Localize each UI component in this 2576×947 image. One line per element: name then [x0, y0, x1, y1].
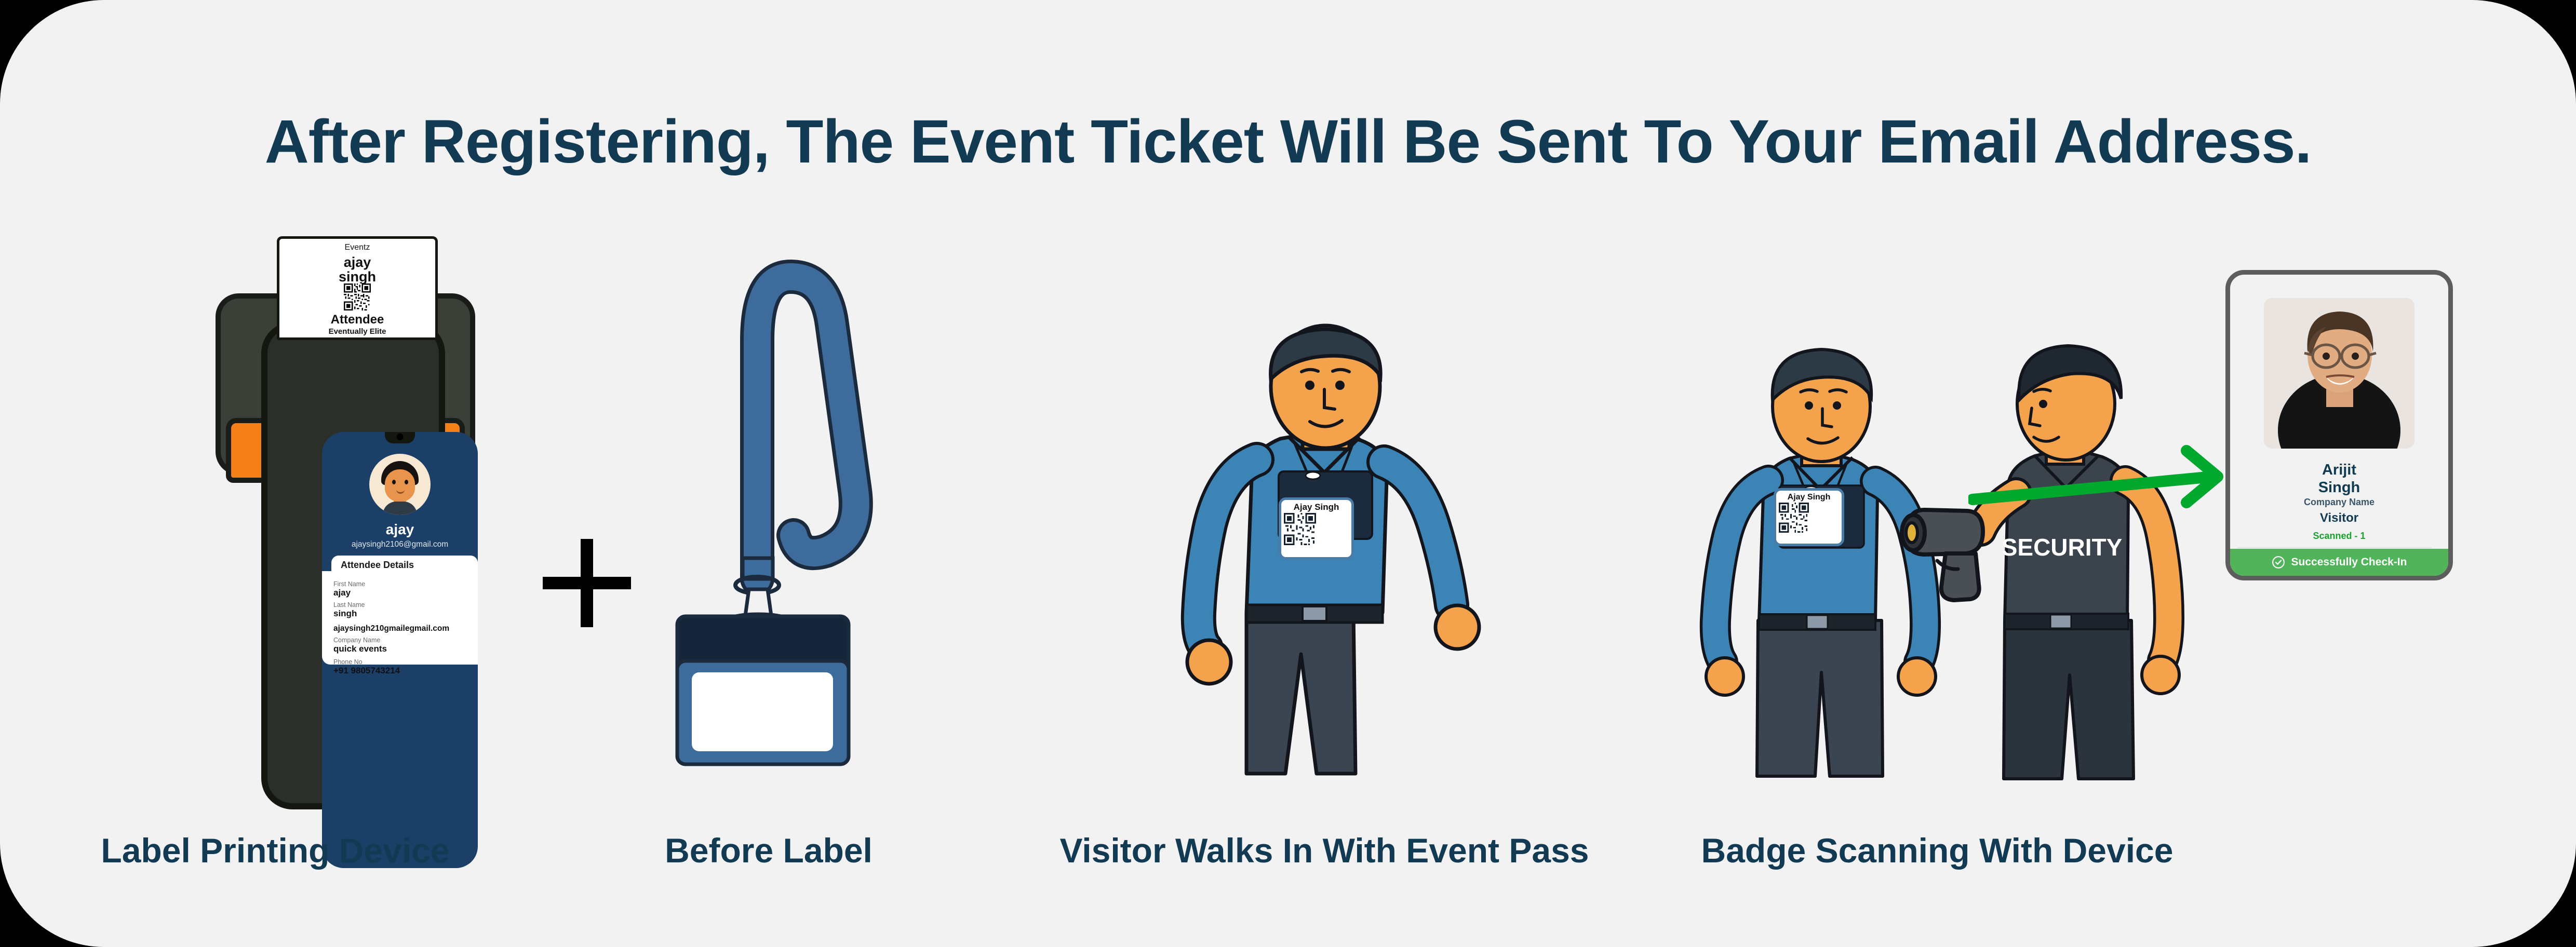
qr-code-icon: [1776, 503, 1812, 533]
label-role: Attendee: [279, 313, 435, 327]
scanned-visitor-badge-name: Ajay Singh: [1776, 493, 1842, 502]
field-value-first-name: ajay: [333, 588, 351, 598]
security-uniform-text: SECURITY: [2002, 534, 2123, 561]
caption-step-2: Before Label: [551, 831, 987, 870]
attendee-details-title: Attendee Details: [341, 560, 414, 571]
field-value-company: quick events: [333, 644, 387, 654]
attendee-photo: [2264, 298, 2414, 449]
result-role: Visitor: [2230, 511, 2448, 525]
label-company-tagline: Eventually Elite: [279, 327, 435, 336]
label-brand: Eventz: [279, 243, 435, 252]
divider: [2237, 547, 2432, 548]
screen-attendee-name: ajay: [322, 521, 478, 538]
result-company-name: Company Name: [2230, 497, 2448, 508]
field-label-phone: Phone No: [333, 658, 363, 666]
label-printing-device: ajay ajaysingh2106@gmail.com Attendee De…: [216, 236, 475, 802]
screen-attendee-email: ajaysingh2106@gmail.com: [322, 540, 478, 549]
caption-step-1: Label Printing Device: [0, 831, 551, 870]
printed-label: Eventz ajay singh: [277, 236, 438, 340]
result-last-name: Singh: [2230, 479, 2448, 496]
lanyard-badge-holder: [670, 247, 878, 787]
checkin-status-text: Successfully Check-In: [2291, 556, 2407, 569]
label-first-name: ajay: [279, 254, 435, 270]
avatar: [369, 454, 431, 515]
screen-notch: [385, 432, 415, 443]
checkin-result-card: Arijit Singh Company Name Visitor Scanne…: [2225, 270, 2453, 580]
field-label-company: Company Name: [333, 637, 380, 644]
caption-step-3: Visitor Walks In With Event Pass: [987, 831, 1662, 870]
qr-code-icon: [1281, 513, 1319, 545]
field-label-first-name: First Name: [333, 580, 365, 588]
visitor-badge-name: Ajay Singh: [1281, 503, 1351, 511]
device-screen[interactable]: ajay ajaysingh2106@gmail.com Attendee De…: [322, 432, 478, 868]
result-scanned-count: Scanned - 1: [2230, 531, 2448, 542]
green-arrow-icon: [1968, 441, 2249, 509]
camera-dot: [397, 434, 404, 440]
caption-step-4: Badge Scanning With Device: [1652, 831, 2223, 870]
field-label-last-name: Last Name: [333, 601, 365, 608]
poster-canvas: After Registering, The Event Ticket Will…: [0, 0, 2576, 947]
field-value-email: ajaysingh210gmailegmail.com: [333, 624, 449, 633]
result-first-name: Arijit: [2230, 462, 2448, 479]
checkin-status-bar: Successfully Check-In: [2230, 549, 2448, 576]
device-body: ajay ajaysingh2106@gmail.com Attendee De…: [261, 322, 445, 809]
label-last-name: singh: [279, 269, 435, 285]
page-title: After Registering, The Event Ticket Will…: [0, 106, 2576, 177]
visitor-badge: Ajay Singh: [1279, 497, 1354, 560]
check-circle-icon: [2272, 556, 2285, 569]
field-value-last-name: singh: [333, 608, 357, 619]
qr-code-icon: [334, 283, 380, 310]
plus-icon: [543, 539, 631, 627]
field-value-phone: +91 9805743214: [333, 666, 400, 676]
scanned-visitor-badge: Ajay Singh: [1774, 488, 1844, 546]
